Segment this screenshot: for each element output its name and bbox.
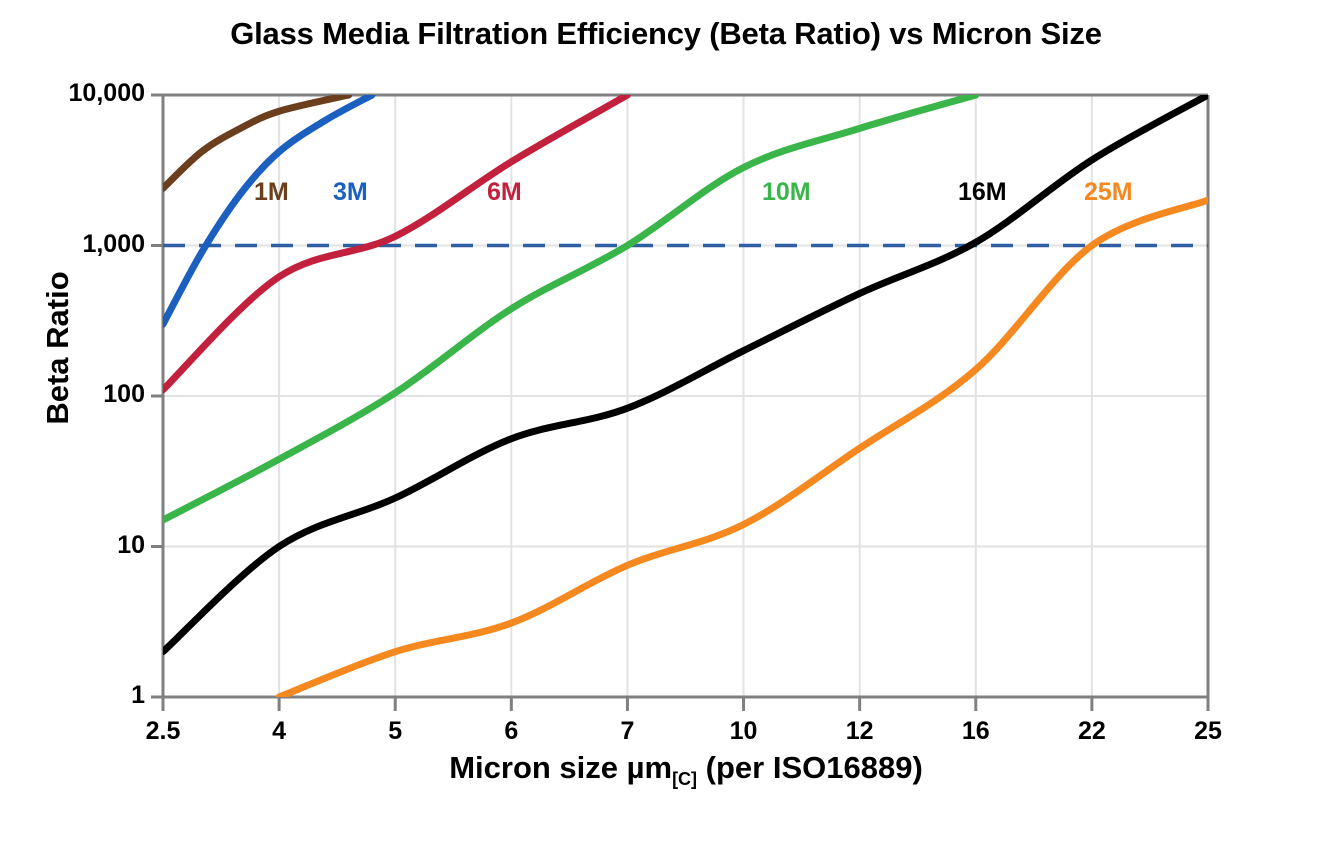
x-tick-label: 10 bbox=[694, 717, 794, 746]
y-tick-label: 100 bbox=[5, 380, 145, 409]
x-tick-label: 25 bbox=[1158, 717, 1258, 746]
series-label-1M: 1M bbox=[254, 178, 289, 207]
series-label-3M: 3M bbox=[333, 178, 368, 207]
y-tick-label: 10,000 bbox=[5, 79, 145, 108]
x-tick-label: 5 bbox=[345, 717, 445, 746]
x-tick-label: 12 bbox=[810, 717, 910, 746]
y-tick-label: 1,000 bbox=[5, 230, 145, 259]
x-tick-label: 6 bbox=[461, 717, 561, 746]
x-axis-title-subscript: [C] bbox=[672, 769, 697, 789]
x-tick-label: 4 bbox=[229, 717, 329, 746]
y-axis-title: Beta Ratio bbox=[40, 228, 76, 468]
y-tick-label: 10 bbox=[5, 531, 145, 560]
x-tick-label: 7 bbox=[577, 717, 677, 746]
series-label-25M: 25M bbox=[1084, 178, 1133, 207]
y-tick-label: 1 bbox=[5, 681, 145, 710]
x-tick-label: 2.5 bbox=[113, 717, 213, 746]
series-label-10M: 10M bbox=[762, 178, 811, 207]
x-axis-title: Micron size µm[C] (per ISO16889) bbox=[163, 750, 1209, 790]
series-label-6M: 6M bbox=[487, 178, 522, 207]
plot-area bbox=[0, 0, 1332, 842]
series-label-16M: 16M bbox=[958, 178, 1007, 207]
x-tick-label: 16 bbox=[926, 717, 1026, 746]
x-axis-title-main: Micron size µm bbox=[449, 750, 672, 785]
x-tick-label: 22 bbox=[1042, 717, 1142, 746]
x-axis-title-tail: (per ISO16889) bbox=[697, 750, 923, 785]
chart-container: Glass Media Filtration Efficiency (Beta … bbox=[0, 0, 1332, 842]
